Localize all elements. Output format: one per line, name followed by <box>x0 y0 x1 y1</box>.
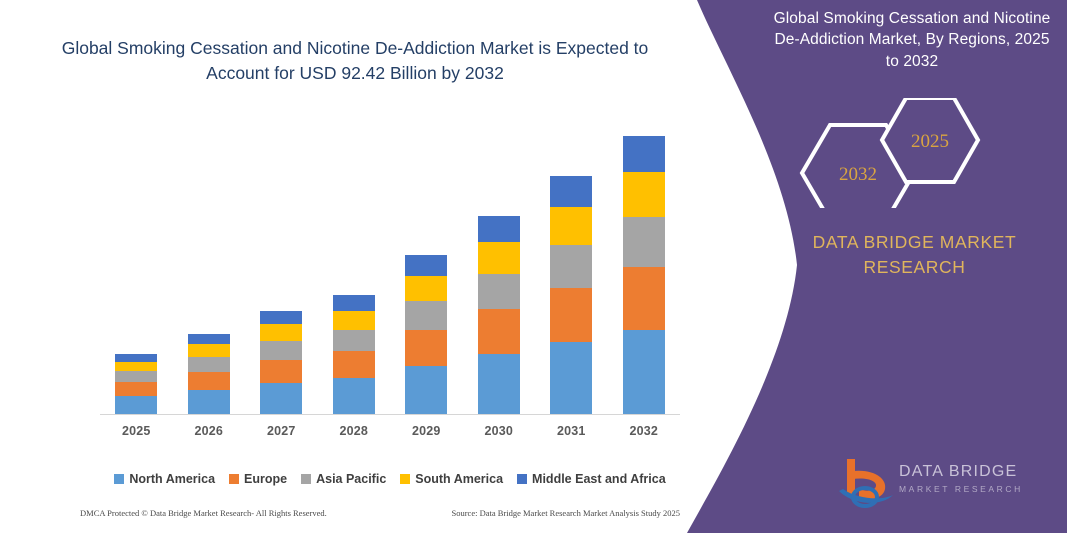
bar-segment-middle-east-and-africa <box>405 255 447 276</box>
hexagon-2025-label: 2025 <box>911 131 949 152</box>
chart-title: Global Smoking Cessation and Nicotine De… <box>60 36 650 87</box>
bar-segment-asia-pacific <box>550 245 592 288</box>
bar-slot-2031 <box>535 120 608 414</box>
x-axis-label-2028: 2028 <box>318 424 391 438</box>
bar-segment-north-america <box>550 342 592 414</box>
bar-segment-europe <box>550 288 592 342</box>
stacked-bar-2028[interactable] <box>333 295 375 414</box>
legend-item-north-america[interactable]: North America <box>114 472 215 486</box>
bar-slot-2025 <box>100 120 173 414</box>
bar-slot-2029 <box>390 120 463 414</box>
x-axis-label-2029: 2029 <box>390 424 463 438</box>
bar-segment-europe <box>115 382 157 396</box>
bar-segment-europe <box>333 351 375 378</box>
year-hexagons: 2032 2025 <box>782 98 1052 208</box>
bar-segment-europe <box>405 330 447 366</box>
bar-slot-2027 <box>245 120 318 414</box>
bar-segment-middle-east-and-africa <box>550 176 592 207</box>
legend-label: North America <box>129 472 215 486</box>
x-axis-label-2031: 2031 <box>535 424 608 438</box>
company-logo: DATA BRIDGE MARKET RESEARCH <box>837 455 1052 515</box>
bar-segment-north-america <box>188 390 230 414</box>
chart-panel: Global Smoking Cessation and Nicotine De… <box>0 0 700 533</box>
bar-segment-europe <box>260 360 302 383</box>
bar-slot-2026 <box>173 120 246 414</box>
bar-segment-south-america <box>115 362 157 372</box>
bar-segment-middle-east-and-africa <box>115 354 157 362</box>
legend-swatch-icon <box>301 474 311 484</box>
logo-wordmark: DATA BRIDGE MARKET RESEARCH <box>899 463 1023 494</box>
x-axis-label-2026: 2026 <box>173 424 246 438</box>
bar-segment-north-america <box>260 383 302 414</box>
bar-segment-asia-pacific <box>115 371 157 382</box>
bar-segment-middle-east-and-africa <box>188 334 230 344</box>
bar-segment-north-america <box>478 354 520 414</box>
stacked-bar-2027[interactable] <box>260 311 302 414</box>
hexagon-2032-label: 2032 <box>839 164 877 185</box>
stacked-bar-2025[interactable] <box>115 354 157 414</box>
chart-legend: North AmericaEuropeAsia PacificSouth Ame… <box>100 472 680 486</box>
bar-segment-north-america <box>115 396 157 414</box>
brand-panel: Global Smoking Cessation and Nicotine De… <box>667 0 1067 533</box>
bar-segment-south-america <box>623 172 665 217</box>
legend-label: Europe <box>244 472 287 486</box>
legend-label: South America <box>415 472 503 486</box>
logo-mark-icon <box>837 457 895 509</box>
bar-segment-asia-pacific <box>405 301 447 330</box>
legend-item-europe[interactable]: Europe <box>229 472 287 486</box>
legend-label: Middle East and Africa <box>532 472 666 486</box>
bar-segment-middle-east-and-africa <box>260 311 302 324</box>
bar-segment-europe <box>188 372 230 390</box>
bar-segment-europe <box>478 309 520 354</box>
bar-segment-middle-east-and-africa <box>333 295 375 311</box>
legend-swatch-icon <box>229 474 239 484</box>
bar-segment-asia-pacific <box>623 217 665 267</box>
legend-swatch-icon <box>114 474 124 484</box>
bar-segment-asia-pacific <box>478 274 520 309</box>
bar-segment-asia-pacific <box>260 341 302 360</box>
bar-slot-2030 <box>463 120 536 414</box>
x-axis-labels: 20252026202720282029203020312032 <box>100 424 680 438</box>
bar-segment-south-america <box>478 242 520 274</box>
legend-item-south-america[interactable]: South America <box>400 472 503 486</box>
bar-segment-north-america <box>333 378 375 414</box>
footer-copyright: DMCA Protected © Data Bridge Market Rese… <box>80 508 327 518</box>
bar-segment-south-america <box>550 207 592 245</box>
bar-segment-south-america <box>188 344 230 357</box>
logo-text-bottom: MARKET RESEARCH <box>899 484 1023 494</box>
logo-text-top: DATA BRIDGE <box>899 463 1023 481</box>
stacked-bar-group <box>100 120 680 414</box>
bar-segment-europe <box>623 267 665 330</box>
legend-item-middle-east-and-africa[interactable]: Middle East and Africa <box>517 472 666 486</box>
panel-title: Global Smoking Cessation and Nicotine De… <box>767 8 1057 72</box>
stacked-bar-2029[interactable] <box>405 255 447 414</box>
x-axis-label-2027: 2027 <box>245 424 318 438</box>
bar-segment-asia-pacific <box>333 330 375 351</box>
x-axis-label-2025: 2025 <box>100 424 173 438</box>
bar-segment-middle-east-and-africa <box>623 136 665 172</box>
stacked-bar-2032[interactable] <box>623 136 665 414</box>
bar-segment-middle-east-and-africa <box>478 216 520 242</box>
x-axis-label-2030: 2030 <box>463 424 536 438</box>
bar-segment-south-america <box>333 311 375 330</box>
bar-segment-north-america <box>623 330 665 414</box>
stacked-bar-2026[interactable] <box>188 334 230 414</box>
x-axis-line <box>100 414 680 415</box>
bar-segment-asia-pacific <box>188 357 230 371</box>
legend-swatch-icon <box>517 474 527 484</box>
legend-item-asia-pacific[interactable]: Asia Pacific <box>301 472 386 486</box>
stacked-bar-2030[interactable] <box>478 216 520 414</box>
footer-source: Source: Data Bridge Market Research Mark… <box>451 508 680 518</box>
stacked-bar-2031[interactable] <box>550 176 592 414</box>
legend-swatch-icon <box>400 474 410 484</box>
brand-name: DATA BRIDGE MARKET RESEARCH <box>772 230 1057 281</box>
bar-segment-north-america <box>405 366 447 414</box>
footer: DMCA Protected © Data Bridge Market Rese… <box>80 508 680 518</box>
bar-segment-south-america <box>405 276 447 302</box>
bar-slot-2028 <box>318 120 391 414</box>
legend-label: Asia Pacific <box>316 472 386 486</box>
bar-segment-south-america <box>260 324 302 341</box>
